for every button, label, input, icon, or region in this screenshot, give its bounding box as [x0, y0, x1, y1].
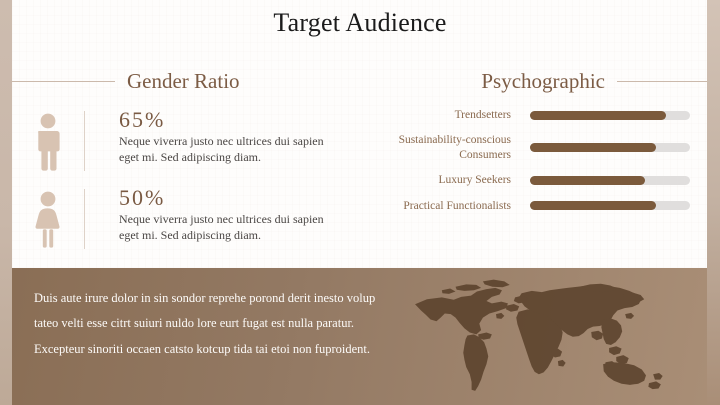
gender-row-male: 65% Neque viverra justo nec ultrices dui… — [12, 105, 367, 183]
male-percent: 65% — [119, 107, 334, 132]
heading-rule-right — [617, 81, 707, 82]
bar-label-trendsetters: Trendsetters — [380, 108, 530, 122]
female-description: Neque viverra justo nec ultrices dui sap… — [119, 212, 334, 244]
gender-ratio-list: 65% Neque viverra justo nec ultrices dui… — [12, 105, 367, 261]
psychographic-section-heading: Psychographic — [367, 68, 707, 94]
bar-track-luxury-seekers — [530, 176, 690, 185]
bar-label-luxury-seekers: Luxury Seekers — [380, 173, 530, 187]
left-edge-strip — [0, 0, 12, 405]
footer-paragraph: Duis aute irure dolor in sin sondor repr… — [34, 286, 379, 362]
male-description: Neque viverra justo nec ultrices dui sap… — [119, 134, 334, 166]
page-title: Target Audience — [0, 8, 720, 38]
female-percent: 50% — [119, 185, 334, 210]
bar-fill-trendsetters — [530, 111, 666, 120]
bar-fill-luxury-seekers — [530, 176, 645, 185]
gender-row-text: 50% Neque viverra justo nec ultrices dui… — [85, 183, 334, 244]
psychographic-heading-label: Psychographic — [469, 69, 617, 94]
bar-fill-sustainability — [530, 143, 656, 152]
gender-section-heading: Gender Ratio — [12, 68, 367, 94]
bar-track-sustainability — [530, 143, 690, 152]
female-person-icon — [12, 183, 84, 249]
bar-track-practical-functionalists — [530, 201, 690, 210]
bar-fill-practical-functionalists — [530, 201, 656, 210]
heading-rule-left — [12, 81, 115, 82]
psychographic-row: Luxury Seekers — [380, 173, 700, 187]
gender-row-female: 50% Neque viverra justo nec ultrices dui… — [12, 183, 367, 261]
psychographic-row: Trendsetters — [380, 108, 700, 122]
bar-track-trendsetters — [530, 111, 690, 120]
psychographic-bar-list: Trendsetters Sustainability-conscious Co… — [380, 108, 700, 224]
bar-label-sustainability: Sustainability-conscious Consumers — [380, 133, 530, 162]
gender-row-text: 65% Neque viverra justo nec ultrices dui… — [85, 105, 334, 166]
psychographic-row: Practical Functionalists — [380, 199, 700, 213]
psychographic-row: Sustainability-conscious Consumers — [380, 133, 700, 162]
footer-panel: Duis aute irure dolor in sin sondor repr… — [12, 268, 707, 405]
slide-root: Target Audience Gender Ratio Psychograph… — [0, 0, 720, 405]
world-map-icon — [381, 276, 707, 401]
right-edge-strip — [707, 0, 720, 405]
bar-label-practical-functionalists: Practical Functionalists — [380, 199, 530, 213]
gender-heading-label: Gender Ratio — [115, 69, 252, 94]
male-person-icon — [12, 105, 84, 171]
